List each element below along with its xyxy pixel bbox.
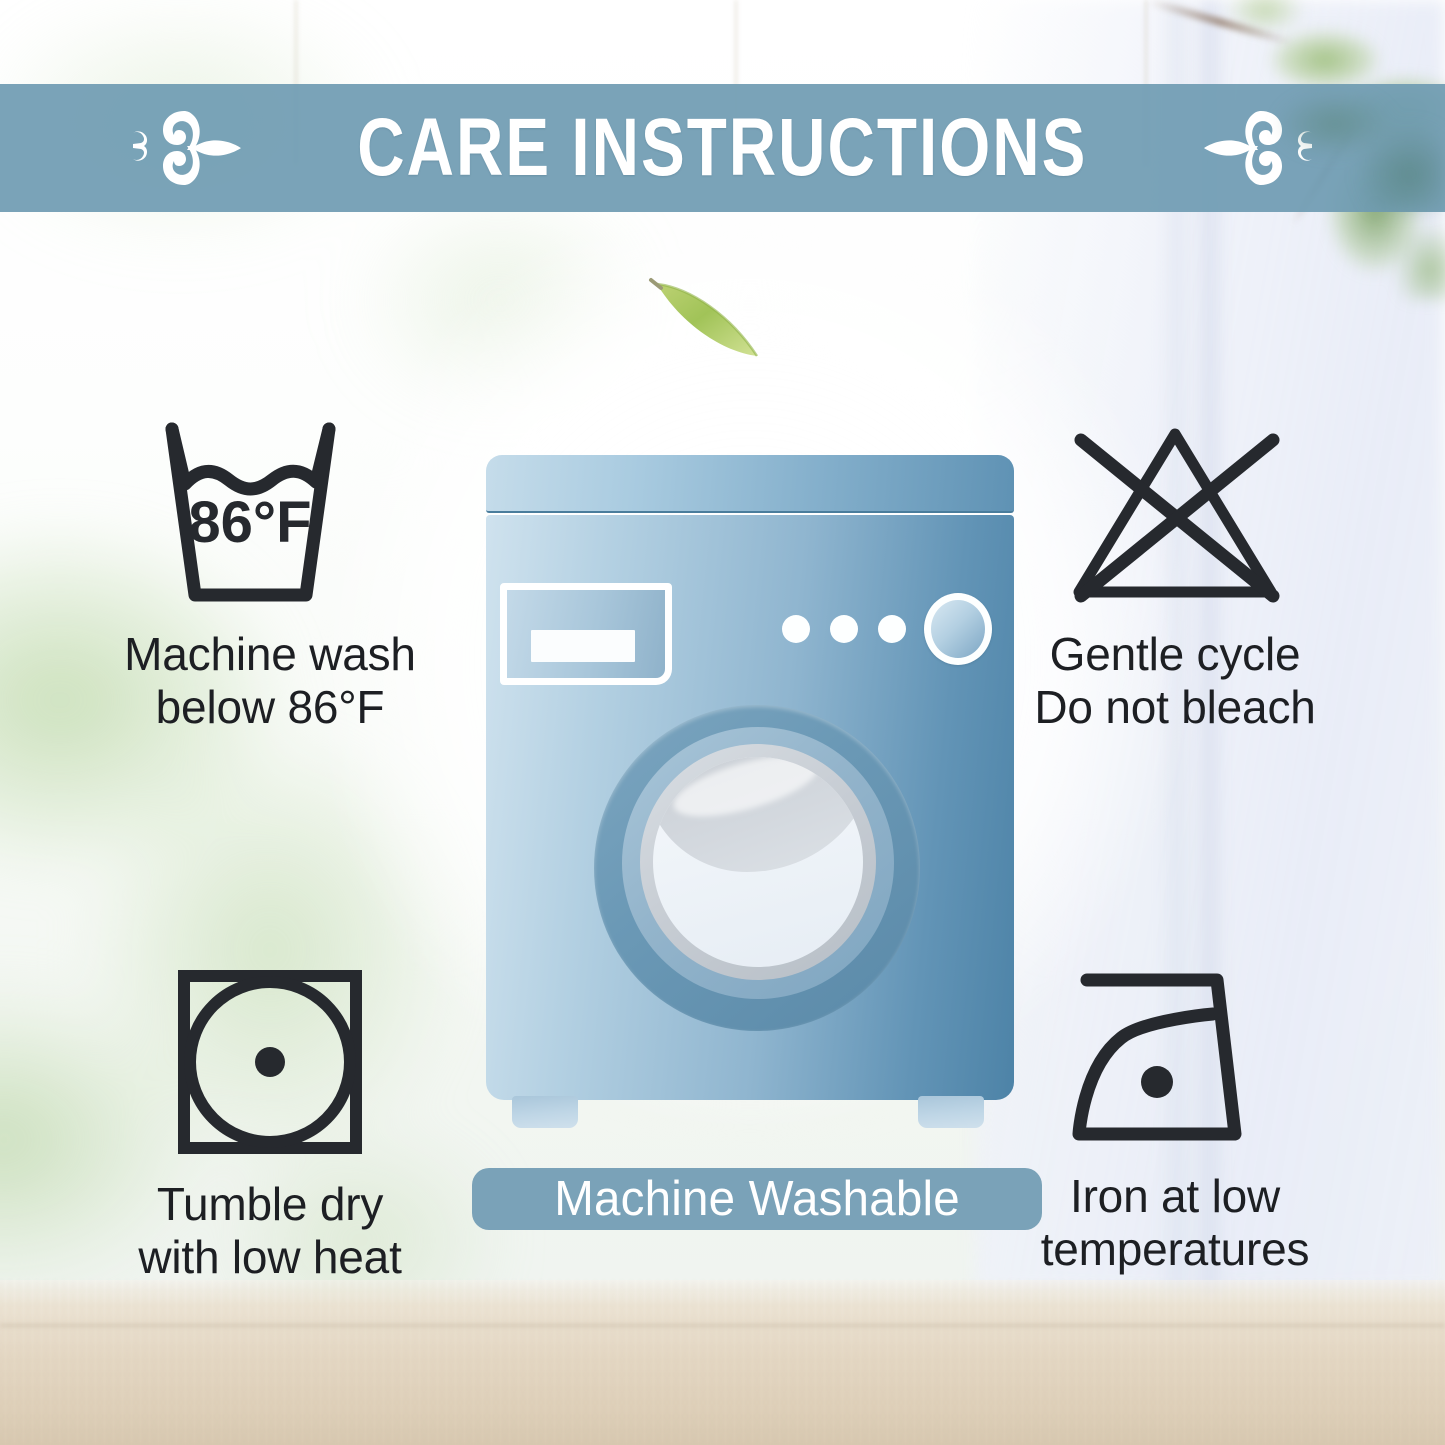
bleach-caption: Gentle cycle Do not bleach [945,628,1405,735]
iron-low-temperature-icon [945,962,1405,1154]
table-wood-grain [0,1280,1445,1445]
care-symbol-bleach: Gentle cycle Do not bleach [945,420,1405,735]
detergent-drawer-slot [531,630,635,662]
machine-body [486,515,1014,1100]
wash-caption: Machine wash below 86°F [40,628,500,735]
washing-machine-illustration [480,455,1020,1130]
machine-door-glass [653,757,863,967]
green-leaf-icon [645,272,775,367]
care-symbol-tumble-dry: Tumble dry with low heat [40,962,500,1285]
fleur-de-lis-icon [1199,103,1317,193]
machine-washable-label: Machine Washable [554,1171,960,1227]
wash-tub-icon: 86°F [40,420,500,612]
indicator-dot [782,615,810,643]
indicator-lights [782,615,906,643]
machine-washable-badge: Machine Washable [472,1168,1042,1230]
iron-heat-dot [1141,1066,1173,1098]
table-edge-line [0,1324,1445,1327]
fleur-de-lis-icon [128,103,246,193]
wash-temperature-label: 86°F [188,490,311,555]
machine-foot [512,1096,578,1128]
indicator-dot [830,615,858,643]
machine-door [594,705,920,1031]
care-symbol-wash: 86°F Machine wash below 86°F [40,420,500,735]
machine-door-rim [640,744,876,980]
header-banner: CARE INSTRUCTIONS [0,84,1445,212]
do-not-bleach-triangle-icon [945,420,1405,612]
tumble-dry-low-icon [40,962,500,1162]
machine-top-cap [486,455,1014,513]
machine-door-ring [622,727,894,999]
page-title: CARE INSTRUCTIONS [357,101,1087,195]
indicator-dot [878,615,906,643]
tumble-dry-caption: Tumble dry with low heat [40,1178,500,1285]
detergent-drawer-panel [500,583,672,685]
tumble-dry-heat-dot [255,1047,285,1077]
